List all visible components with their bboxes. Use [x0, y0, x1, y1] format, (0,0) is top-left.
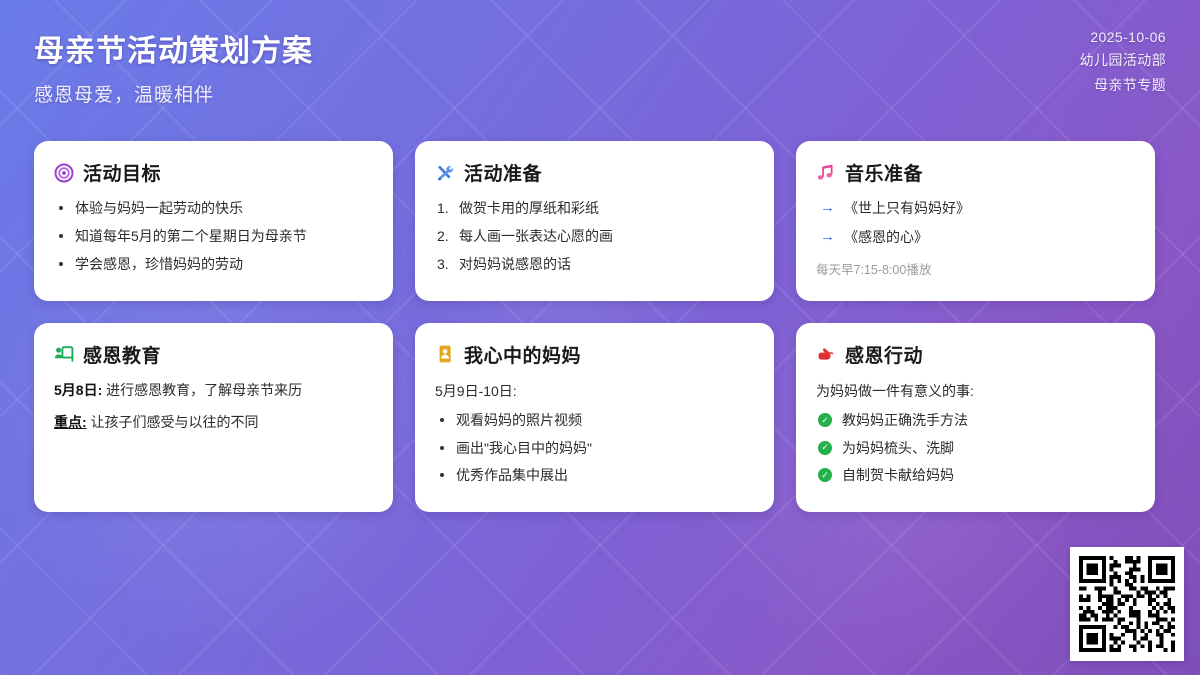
card-header: 活动目标 [54, 159, 373, 186]
education-line-1: 5月8日: 进行感恩教育，了解母亲节来历 [54, 381, 373, 401]
pointing-hand-icon [816, 344, 836, 364]
action-list: 教妈妈正确洗手方法 为妈妈梳头、洗脚 自制贺卡献给妈妈 [816, 411, 1135, 495]
list-item: 《世上只有妈妈好》 [816, 199, 1135, 217]
list-item: 为妈妈梳头、洗脚 [816, 439, 1135, 458]
list-item: 画出"我心目中的妈妈" [435, 439, 754, 458]
card-music-preparation[interactable]: 音乐准备 《世上只有妈妈好》 《感恩的心》 每天早7:15-8:00播放 [796, 141, 1155, 301]
list-item: 每人画一张表达心愿的画 [435, 227, 754, 246]
card-grid: 活动目标 体验与妈妈一起劳动的快乐 知道每年5月的第二个星期日为母亲节 学会感恩… [34, 141, 1174, 512]
title-block: 母亲节活动策划方案 感恩母爱，温暖相伴 [34, 26, 313, 107]
card-title: 感恩教育 [83, 341, 161, 368]
music-note-icon [816, 163, 836, 183]
header-meta: 2025-10-06 幼儿园活动部 母亲节专题 [1080, 26, 1166, 95]
list-item: 观看妈妈的照片视频 [435, 411, 754, 430]
teacher-presentation-icon [54, 344, 74, 364]
goal-list: 体验与妈妈一起劳动的快乐 知道每年5月的第二个星期日为母亲节 学会感恩，珍惜妈妈… [54, 199, 373, 283]
list-item: 《感恩的心》 [816, 228, 1135, 246]
card-activity-goals[interactable]: 活动目标 体验与妈妈一起劳动的快乐 知道每年5月的第二个星期日为母亲节 学会感恩… [34, 141, 393, 301]
list-item: 自制贺卡献给妈妈 [816, 466, 1135, 485]
education-line-2: 重点: 让孩子们感受与以往的不同 [54, 413, 373, 433]
card-mom-in-my-heart[interactable]: 我心中的妈妈 5月9日-10日: 观看妈妈的照片视频 画出"我心目中的妈妈" 优… [415, 323, 774, 513]
meta-date: 2025-10-06 [1090, 29, 1166, 45]
list-item: 学会感恩，珍惜妈妈的劳动 [54, 255, 373, 274]
card-header: 我心中的妈妈 [435, 341, 754, 368]
list-item: 体验与妈妈一起劳动的快乐 [54, 199, 373, 218]
education-date-text: 进行感恩教育，了解母亲节来历 [106, 382, 302, 398]
card-gratitude-action[interactable]: 感恩行动 为妈妈做一件有意义的事: 教妈妈正确洗手方法 为妈妈梳头、洗脚 自制贺… [796, 323, 1155, 513]
card-title: 活动目标 [83, 159, 161, 186]
card-title: 活动准备 [464, 159, 542, 186]
page-subtitle: 感恩母爱，温暖相伴 [34, 80, 313, 107]
qr-code [1079, 556, 1175, 652]
card-activity-preparation[interactable]: 活动准备 做贺卡用的厚纸和彩纸 每人画一张表达心愿的画 对妈妈说感恩的话 [415, 141, 774, 301]
mom-activity-list: 观看妈妈的照片视频 画出"我心目中的妈妈" 优秀作品集中展出 [435, 411, 754, 495]
card-title: 音乐准备 [845, 159, 923, 186]
music-schedule-note: 每天早7:15-8:00播放 [816, 259, 1135, 278]
card-header: 感恩行动 [816, 341, 1135, 368]
card-header: 音乐准备 [816, 159, 1135, 186]
card-gratitude-education[interactable]: 感恩教育 5月8日: 进行感恩教育，了解母亲节来历 重点: 让孩子们感受与以往的… [34, 323, 393, 513]
list-item: 做贺卡用的厚纸和彩纸 [435, 199, 754, 218]
card-header: 感恩教育 [54, 341, 373, 368]
card-header: 活动准备 [435, 159, 754, 186]
card-title: 我心中的妈妈 [464, 341, 581, 368]
list-item: 优秀作品集中展出 [435, 466, 754, 485]
page-header: 母亲节活动策划方案 感恩母爱，温暖相伴 2025-10-06 幼儿园活动部 母亲… [0, 0, 1200, 130]
education-focus-text: 让孩子们感受与以往的不同 [91, 414, 259, 430]
education-date-label: 5月8日: [54, 382, 102, 398]
list-item: 对妈妈说感恩的话 [435, 255, 754, 274]
education-focus-label: 重点: [54, 414, 87, 430]
page-title: 母亲节活动策划方案 [34, 26, 313, 70]
card-title: 感恩行动 [845, 341, 923, 368]
meta-department: 幼儿园活动部 [1080, 50, 1166, 70]
music-list: 《世上只有妈妈好》 《感恩的心》 [816, 199, 1135, 257]
tools-icon [435, 163, 455, 183]
id-badge-icon [435, 344, 455, 364]
list-item: 知道每年5月的第二个星期日为母亲节 [54, 227, 373, 246]
target-icon [54, 163, 74, 183]
list-item: 教妈妈正确洗手方法 [816, 411, 1135, 430]
action-card-intro: 为妈妈做一件有意义的事: [816, 381, 1135, 401]
qr-code-block[interactable] [1070, 547, 1184, 661]
mom-card-intro: 5月9日-10日: [435, 381, 754, 401]
preparation-list: 做贺卡用的厚纸和彩纸 每人画一张表达心愿的画 对妈妈说感恩的话 [435, 199, 754, 283]
meta-topic: 母亲节专题 [1094, 75, 1166, 95]
